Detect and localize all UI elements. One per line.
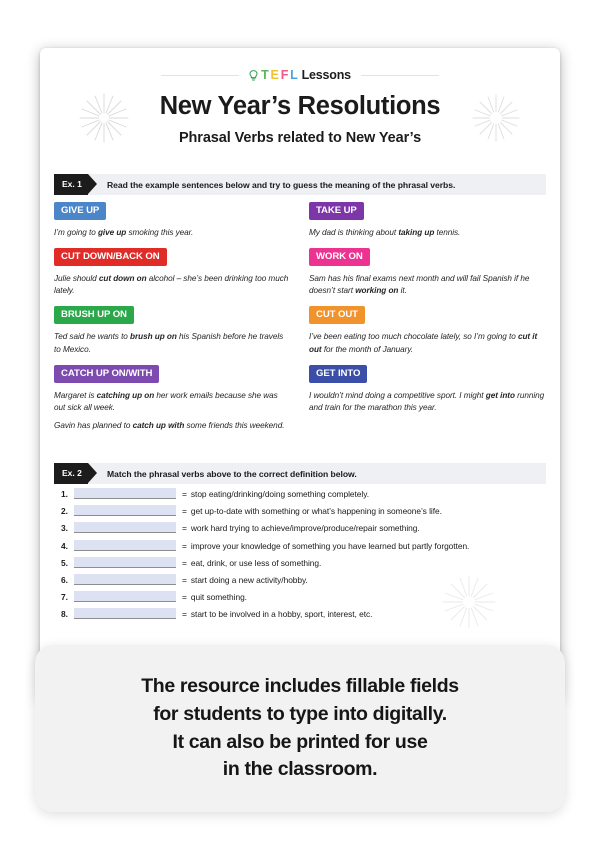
answer-field-8[interactable]: [74, 608, 176, 619]
caption-line: It can also be printed for use: [173, 729, 428, 757]
logo-letter-e: E: [271, 68, 279, 82]
definition-row: 4.=improve your knowledge of something y…: [54, 540, 546, 557]
logo-rule-right: [361, 75, 439, 76]
sentence-prefix: Margaret is: [54, 391, 97, 400]
sentence-prefix: Gavin has planned to: [54, 421, 133, 430]
phrasal-verb-chip: WORK ON: [309, 248, 370, 266]
phrasal-verb-highlight: working on: [355, 286, 398, 295]
sentence-prefix: I’m going to: [54, 228, 98, 237]
phrasal-verb-item: TAKE UPMy dad is thinking about taking u…: [309, 200, 546, 240]
logo-letter-f: F: [281, 68, 288, 82]
answer-field-7[interactable]: [74, 591, 176, 602]
caption-line: The resource includes fillable fields: [141, 673, 459, 701]
phrasal-verb-item: CUT OUTI’ve been eating too much chocola…: [309, 304, 546, 356]
definition-text: start to be involved in a hobby, sport, …: [191, 608, 373, 621]
definition-text: get up-to-date with something or what’s …: [191, 505, 442, 518]
phrasal-verb-chip: BRUSH UP ON: [54, 306, 134, 324]
definition-number: 3.: [54, 522, 74, 535]
sentence-suffix: smoking this year.: [126, 228, 193, 237]
sentence-prefix: Sam has his final exams next month and w…: [309, 274, 529, 296]
page-subtitle: Phrasal Verbs related to New Year’s: [40, 130, 560, 146]
definition-number: 2.: [54, 505, 74, 518]
example-sentence: Ted said he wants to brush up on his Spa…: [54, 331, 291, 356]
definition-text: work hard trying to achieve/improve/prod…: [191, 522, 420, 535]
exercise-2-banner: Ex. 2 Match the phrasal verbs above to t…: [54, 463, 546, 484]
definition-text: start doing a new activity/hobby.: [191, 574, 308, 587]
caption-line: for students to type into digitally.: [153, 701, 447, 729]
exercise-2-instruction: Match the phrasal verbs above to the cor…: [107, 469, 357, 479]
equals-sign: =: [182, 591, 187, 604]
definition-row: 7.=quit something.: [54, 591, 546, 608]
phrasal-verb-highlight: get into: [486, 391, 515, 400]
exercise-1-banner: Ex. 1 Read the example sentences below a…: [54, 174, 546, 195]
phrasal-verb-chip: CATCH UP ON/WITH: [54, 365, 159, 383]
equals-sign: =: [182, 540, 187, 553]
definition-text: quit something.: [191, 591, 247, 604]
phrasal-verb-item: WORK ONSam has his final exams next mont…: [309, 246, 546, 298]
worksheet-page: T E F L Lessons New Year’s Resolutions P…: [40, 48, 560, 700]
definition-row: 2.=get up-to-date with something or what…: [54, 505, 546, 522]
phrasal-verb-chip: GIVE UP: [54, 202, 106, 220]
phrasal-verb-highlight: taking up: [398, 228, 434, 237]
phrasal-verb-item: GET INTOI wouldn’t mind doing a competit…: [309, 363, 546, 415]
caption-line: in the classroom.: [223, 756, 377, 784]
sentence-prefix: Julie should: [54, 274, 99, 283]
sentence-suffix: some friends this weekend.: [184, 421, 284, 430]
phrasal-verb-item: CUT DOWN/BACK ONJulie should cut down on…: [54, 246, 291, 298]
caption-card: The resource includes fillable fields fo…: [35, 645, 565, 812]
lightbulb-icon: [249, 70, 258, 81]
logo-rule-left: [161, 75, 239, 76]
example-sentence: I’ve been eating too much chocolate late…: [309, 331, 546, 356]
sentence-suffix: for the month of January.: [322, 345, 413, 354]
phrasal-verb-item: CATCH UP ON/WITHMargaret is catching up …: [54, 363, 291, 433]
definition-row: 5.=eat, drink, or use less of something.: [54, 557, 546, 574]
phrasal-verb-chip: TAKE UP: [309, 202, 364, 220]
example-sentence: My dad is thinking about taking up tenni…: [309, 227, 546, 240]
definition-row: 8.=start to be involved in a hobby, spor…: [54, 608, 546, 625]
definition-text: stop eating/drinking/doing something com…: [191, 488, 369, 501]
example-sentence: I wouldn’t mind doing a competitive spor…: [309, 390, 546, 415]
sentence-suffix: tennis.: [434, 228, 460, 237]
sentence-prefix: My dad is thinking about: [309, 228, 398, 237]
definition-number: 7.: [54, 591, 74, 604]
example-sentence: Julie should cut down on alcohol – she’s…: [54, 273, 291, 298]
definition-row: 1.=stop eating/drinking/doing something …: [54, 488, 546, 505]
phrasal-verb-highlight: catching up on: [97, 391, 155, 400]
example-sentence: Gavin has planned to catch up with some …: [54, 420, 291, 433]
phrasal-verb-highlight: brush up on: [130, 332, 177, 341]
logo-letter-t: T: [261, 68, 268, 82]
sentence-suffix: it.: [398, 286, 406, 295]
answer-field-4[interactable]: [74, 540, 176, 551]
phrasal-verb-chip: CUT OUT: [309, 306, 365, 324]
example-sentence: I’m going to give up smoking this year.: [54, 227, 291, 240]
sentence-prefix: Ted said he wants to: [54, 332, 130, 341]
answer-field-2[interactable]: [74, 505, 176, 516]
page-title: New Year’s Resolutions: [40, 92, 560, 121]
equals-sign: =: [182, 608, 187, 621]
definition-matching-list: 1.=stop eating/drinking/doing something …: [54, 488, 546, 626]
definition-text: eat, drink, or use less of something.: [191, 557, 321, 570]
phrasal-verb-highlight: give up: [98, 228, 126, 237]
definition-row: 6.=start doing a new activity/hobby.: [54, 574, 546, 591]
phrasal-verb-item: BRUSH UP ONTed said he wants to brush up…: [54, 304, 291, 356]
definition-number: 4.: [54, 540, 74, 553]
answer-field-3[interactable]: [74, 522, 176, 533]
definition-text: improve your knowledge of something you …: [191, 540, 469, 553]
equals-sign: =: [182, 505, 187, 518]
equals-sign: =: [182, 574, 187, 587]
equals-sign: =: [182, 488, 187, 501]
definition-number: 8.: [54, 608, 74, 621]
brand-logo: T E F L Lessons: [40, 68, 560, 82]
exercise-2-tag: Ex. 2: [54, 463, 88, 484]
logo-word: Lessons: [302, 68, 351, 82]
definition-number: 6.: [54, 574, 74, 587]
equals-sign: =: [182, 557, 187, 570]
example-sentence: Sam has his final exams next month and w…: [309, 273, 546, 298]
definition-row: 3.=work hard trying to achieve/improve/p…: [54, 522, 546, 539]
phrasal-verb-item: GIVE UPI’m going to give up smoking this…: [54, 200, 291, 240]
definition-number: 1.: [54, 488, 74, 501]
equals-sign: =: [182, 522, 187, 535]
phrasal-verb-grid: GIVE UPI’m going to give up smoking this…: [54, 200, 546, 439]
exercise-1-tag: Ex. 1: [54, 174, 88, 195]
example-sentence: Margaret is catching up on her work emai…: [54, 390, 291, 415]
answer-field-6[interactable]: [74, 574, 176, 585]
phrasal-verb-chip: CUT DOWN/BACK ON: [54, 248, 167, 266]
sentence-prefix: I’ve been eating too much chocolate late…: [309, 332, 518, 341]
answer-field-5[interactable]: [74, 557, 176, 568]
answer-field-1[interactable]: [74, 488, 176, 499]
phrasal-verb-highlight: catch up with: [133, 421, 185, 430]
phrasal-verb-highlight: cut down on: [99, 274, 147, 283]
definition-number: 5.: [54, 557, 74, 570]
phrasal-verb-chip: GET INTO: [309, 365, 367, 383]
logo-letter-l: L: [290, 68, 297, 82]
phrasal-verb-column-left: GIVE UPI’m going to give up smoking this…: [54, 200, 291, 439]
sentence-prefix: I wouldn’t mind doing a competitive spor…: [309, 391, 486, 400]
exercise-1-instruction: Read the example sentences below and try…: [107, 180, 455, 190]
phrasal-verb-column-right: TAKE UPMy dad is thinking about taking u…: [309, 200, 546, 439]
